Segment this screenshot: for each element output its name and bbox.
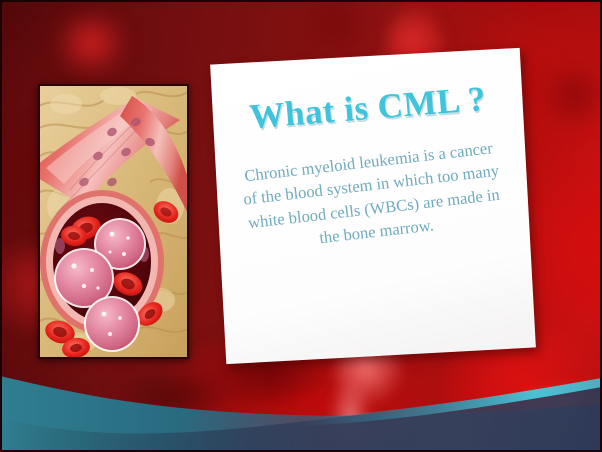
presentation-slide: What is CML ? Chronic myeloid leukemia i… [0, 0, 602, 452]
blood-vessel-illustration [38, 84, 189, 359]
content-card: What is CML ? Chronic myeloid leukemia i… [210, 48, 536, 364]
slide-title: What is CML ? [230, 77, 506, 138]
slide-body-text: Chronic myeloid leukemia is a cancer of … [231, 135, 514, 259]
bottom-wave-decoration [0, 360, 602, 452]
blood-vessel-illustration-graphic [40, 86, 187, 357]
